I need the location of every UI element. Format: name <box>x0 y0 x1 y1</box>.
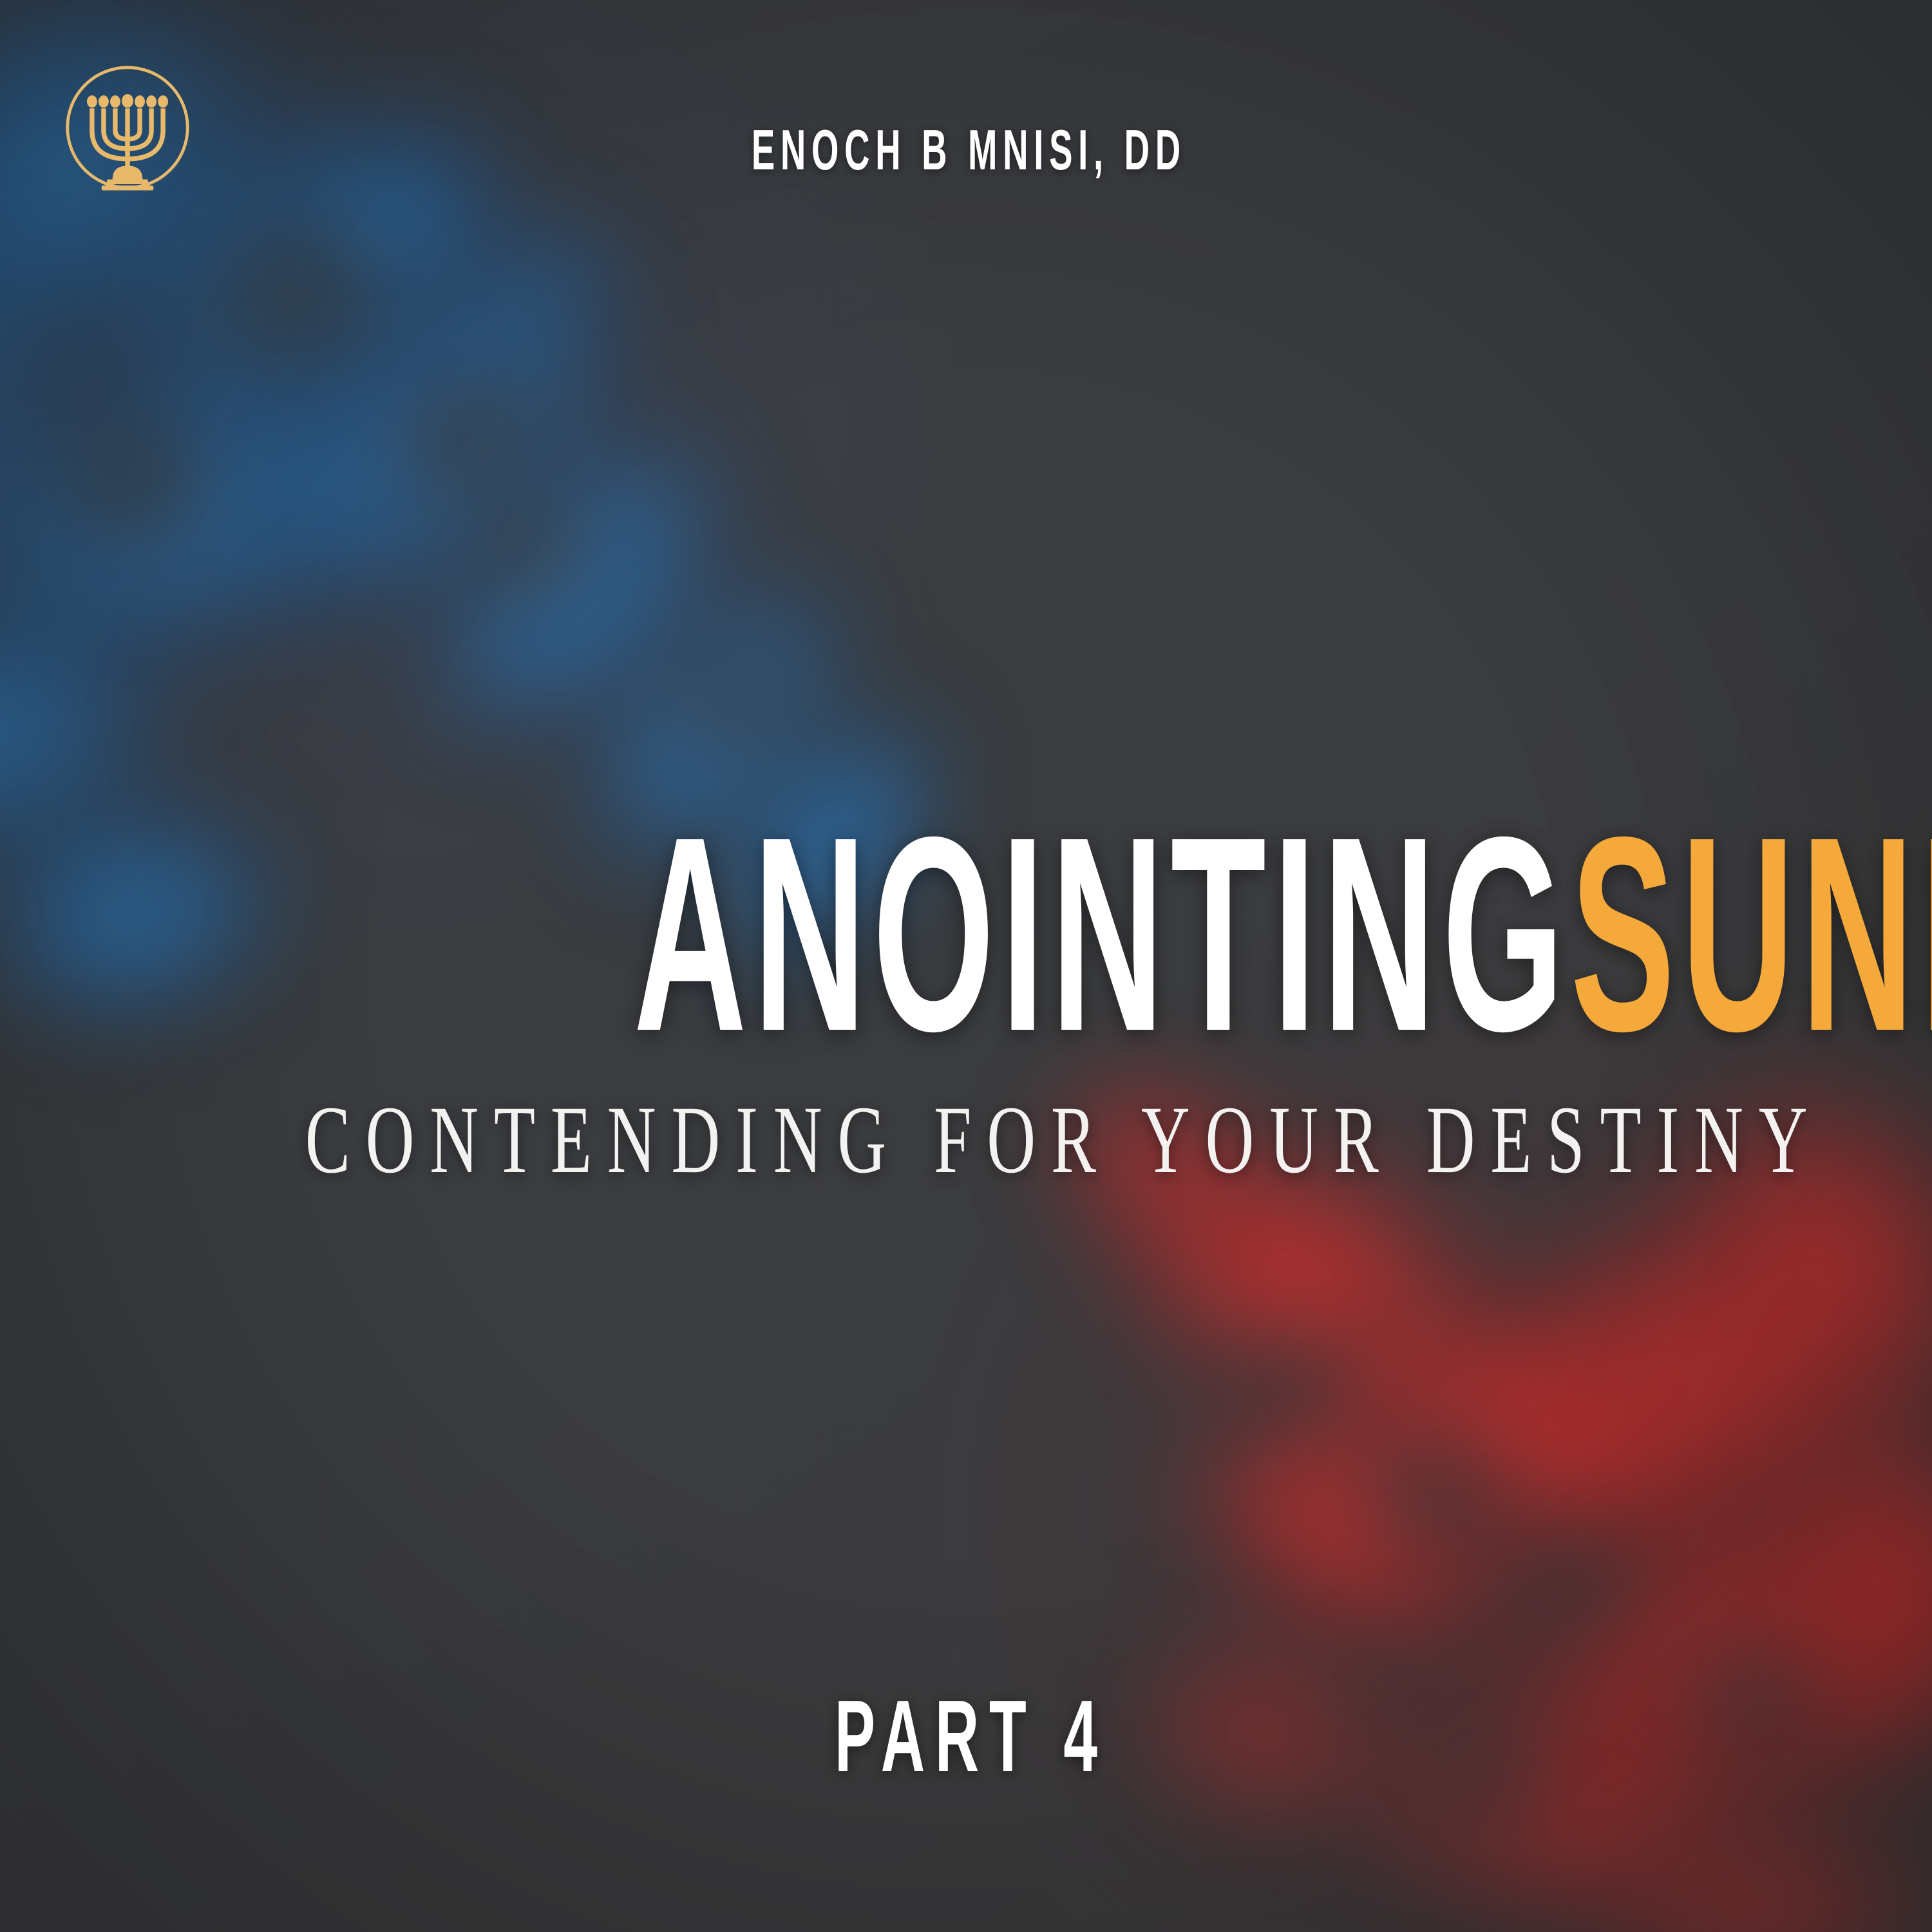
title-word-anointing: ANOINTING <box>634 780 1571 1089</box>
subtitle: CONTENDING FOR YOUR DESTINY <box>290 1084 1642 1195</box>
poster-canvas: ENOCH B MNISI, DD ANOINTINGSUNDAY CONTEN… <box>0 0 1932 1932</box>
title-block: ANOINTINGSUNDAY <box>0 813 1932 1056</box>
part-label: PART 4 <box>386 1678 1546 1795</box>
title-word-sunday: SUNDAY <box>1571 780 1932 1089</box>
speaker-byline: ENOCH B MNISI, DD <box>367 117 1565 183</box>
page-title: ANOINTINGSUNDAY <box>627 813 1932 1056</box>
menorah-icon <box>59 59 196 196</box>
